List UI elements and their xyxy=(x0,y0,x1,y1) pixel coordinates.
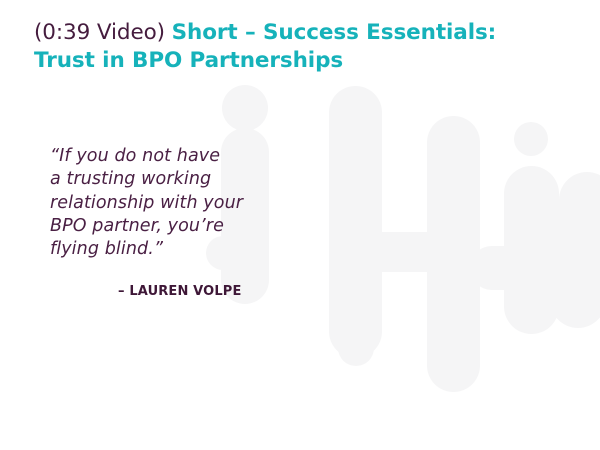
title-main-text-line1: Short – Success Essentials: xyxy=(172,20,497,45)
quote-line-4: BPO partner, you’re xyxy=(50,215,340,238)
watermark-pill-3 xyxy=(427,116,480,392)
quote-attribution: – LAUREN VOLPE xyxy=(118,284,242,299)
pull-quote: “If you do not have a trusting working r… xyxy=(50,145,340,261)
title-video-duration-prefix: (0:39 Video) xyxy=(34,20,172,45)
watermark-circle-4 xyxy=(550,272,600,328)
quote-line-2: a trusting working xyxy=(50,168,340,191)
watermark-circle-3 xyxy=(514,122,548,156)
title-main-text-line2: Trust in BPO Partnerships xyxy=(34,48,343,73)
quote-line-5: flying blind.” xyxy=(50,238,340,261)
watermark-pill-5 xyxy=(559,172,600,308)
watermark-circle-1 xyxy=(222,85,268,131)
watermark-circle-2 xyxy=(338,330,374,366)
watermark-pill-4 xyxy=(504,166,559,334)
watermark-connector-3 xyxy=(470,246,600,290)
quote-line-3: relationship with your xyxy=(50,192,340,215)
watermark-connector-2 xyxy=(352,232,448,272)
slide-title: (0:39 Video) Short – Success Essentials:… xyxy=(34,19,574,75)
slide-canvas: (0:39 Video) Short – Success Essentials:… xyxy=(0,0,600,450)
quote-line-1: “If you do not have xyxy=(50,145,340,168)
